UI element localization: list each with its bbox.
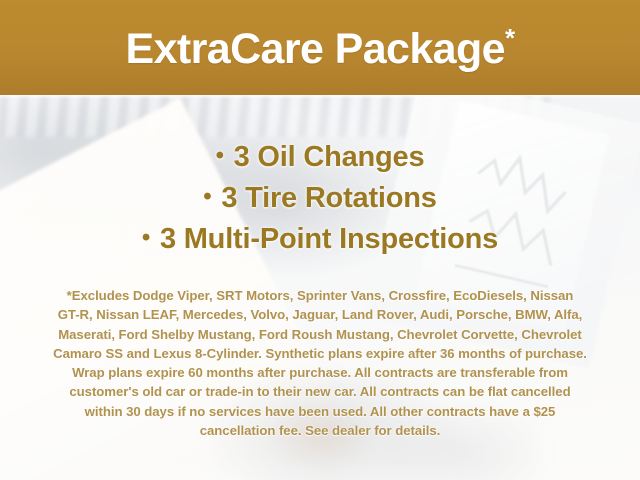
disclaimer-line: cancellation fee. See dealer for details… — [28, 421, 612, 440]
benefit-item: • 3 Multi-Point Inspections — [0, 218, 640, 259]
benefits-list: • 3 Oil Changes • 3 Tire Rotations • 3 M… — [0, 136, 640, 259]
page-title-text: ExtraCare Package — [126, 25, 505, 73]
benefit-item: • 3 Oil Changes — [0, 136, 640, 177]
disclaimer-line: customer's old car or trade-in to their … — [28, 382, 612, 401]
disclaimer-line: GT-R, Nissan LEAF, Mercedes, Volvo, Jagu… — [28, 305, 612, 324]
disclaimer-line: within 30 days if no services have been … — [28, 402, 612, 421]
header-band-edge — [0, 95, 640, 99]
header-band: ExtraCare Package* — [0, 0, 640, 95]
extracare-package-ad: ExtraCare Package* • 3 Oil Changes • 3 T… — [0, 0, 640, 480]
disclaimer-line: Camaro SS and Lexus 8-Cylinder. Syntheti… — [28, 344, 612, 363]
benefit-item-label: 3 Multi-Point Inspections — [160, 223, 498, 255]
disclaimer-text: *Excludes Dodge Viper, SRT Motors, Sprin… — [28, 286, 612, 440]
bullet-icon: • — [203, 183, 211, 210]
bullet-icon: • — [142, 224, 150, 251]
disclaimer-line: *Excludes Dodge Viper, SRT Motors, Sprin… — [28, 286, 612, 305]
bullet-icon: • — [216, 142, 224, 169]
benefit-item-label: 3 Oil Changes — [234, 141, 425, 173]
benefit-item: • 3 Tire Rotations — [0, 177, 640, 218]
page-title: ExtraCare Package* — [126, 25, 515, 71]
disclaimer-line: Wrap plans expire 60 months after purcha… — [28, 363, 612, 382]
page-title-asterisk: * — [505, 23, 515, 53]
disclaimer-line: Maserati, Ford Shelby Mustang, Ford Rous… — [28, 325, 612, 344]
benefit-item-label: 3 Tire Rotations — [221, 182, 436, 214]
